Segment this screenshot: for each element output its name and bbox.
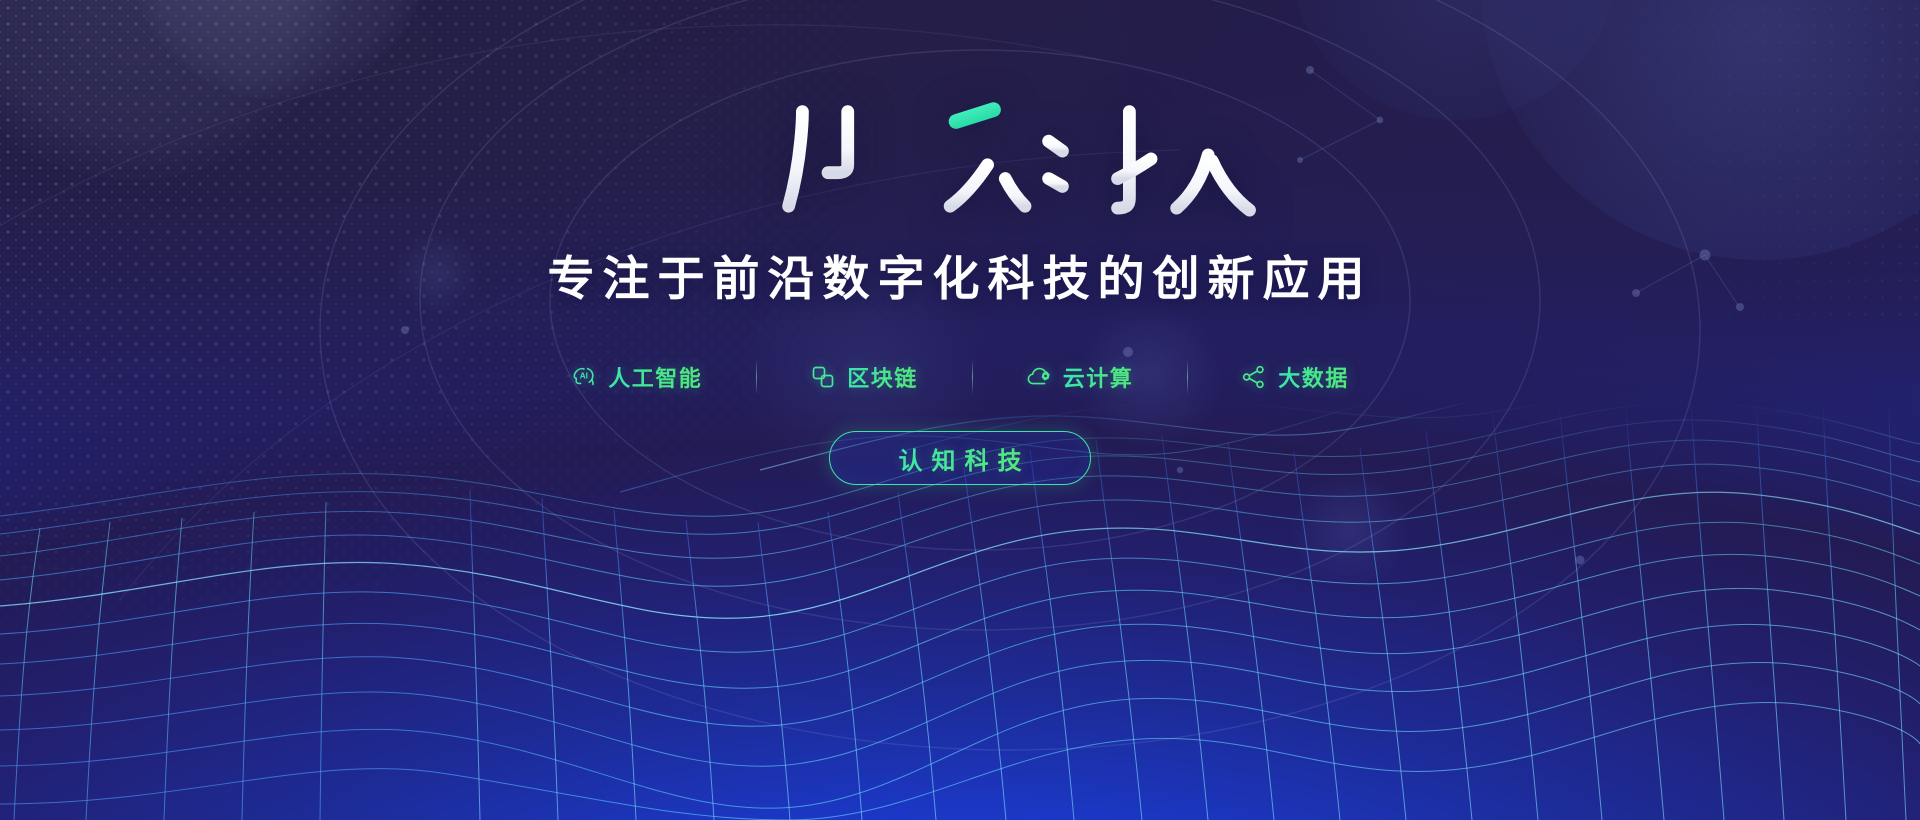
svg-text:AI: AI xyxy=(580,371,588,380)
feature-tag-bigdata[interactable]: 大数据 xyxy=(1187,357,1403,397)
brand-logo xyxy=(650,88,1270,218)
cognitive-tech-button[interactable]: 认知科技 xyxy=(829,431,1091,485)
cognitive-tech-button-label: 认知科技 xyxy=(890,441,1031,476)
logo-char-jia xyxy=(789,108,919,206)
logo-char-ji xyxy=(1114,104,1250,210)
share-nodes-icon xyxy=(1241,364,1267,390)
hero-banner: 专注于前沿数字化科技的创新应用 AI 人工智能 xyxy=(0,0,1920,820)
feature-tag-label: 人工智能 xyxy=(608,361,702,393)
feature-tag-blockchain[interactable]: 区块链 xyxy=(756,357,972,397)
logo-char-fu xyxy=(674,100,757,204)
blockchain-icon xyxy=(810,364,836,390)
cloud-gear-icon xyxy=(1026,364,1052,390)
hero-subtitle: 专注于前沿数字化科技的创新应用 xyxy=(548,240,1373,309)
feature-tag-label: 大数据 xyxy=(1278,361,1349,393)
feature-tag-label: 云计算 xyxy=(1063,361,1134,393)
feature-tag-label: 区块链 xyxy=(847,361,918,393)
feature-tag-list: AI 人工智能 区块链 xyxy=(517,357,1403,397)
feature-tag-cloud[interactable]: 云计算 xyxy=(972,357,1188,397)
ai-head-icon: AI xyxy=(571,364,597,390)
feature-tag-ai[interactable]: AI 人工智能 xyxy=(517,357,756,397)
